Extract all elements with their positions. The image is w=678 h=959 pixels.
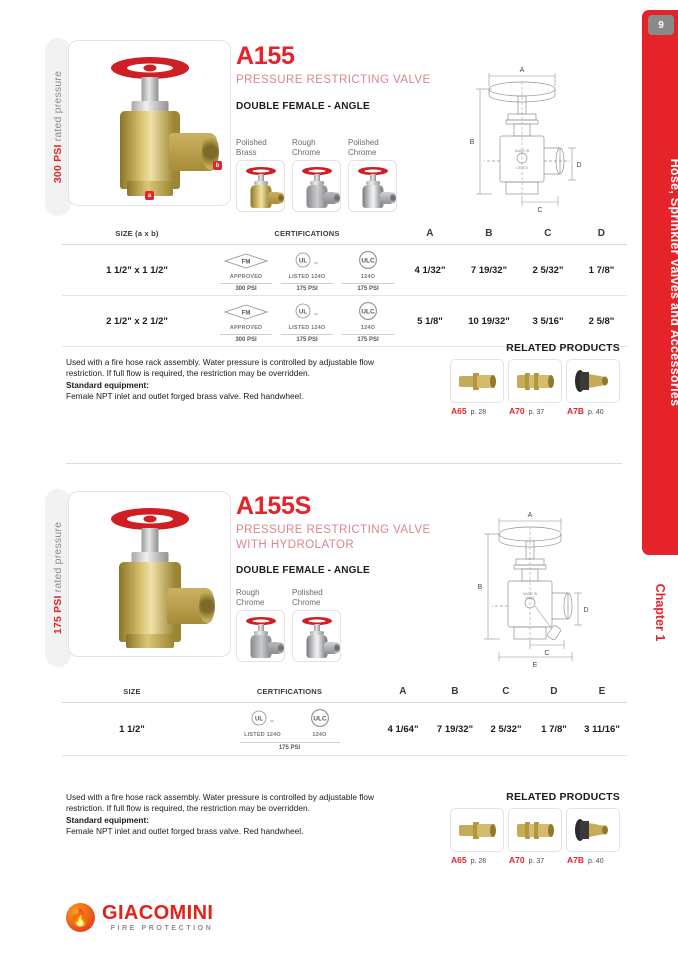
finish-option-rough-chrome[interactable]: Rough Chrome [236,588,285,662]
cell-dim-d: 1 7/8" [576,245,627,296]
related-code: A7B [567,855,584,865]
col-a: A [377,686,429,703]
standard-equipment-label: Standard equipment: [66,815,149,825]
cell-dim-c: 3 5/16" [520,296,576,347]
related-code: A7B [567,406,584,416]
svg-text:UL: UL [299,259,307,265]
flame-icon: 🔥 [66,903,95,932]
chapter-tab-title: Hose, Sprinkler Valves and Accessories [642,10,678,555]
product-subtitle-line1-a155s: PRESSURE RESTRICTING VALVE [236,523,431,538]
cell-certifications: FM APPROVED 300 PSI [212,245,402,296]
related-page: p. 37 [529,409,545,416]
svg-text:ULC: ULC [361,309,375,316]
spec-table-a155: SIZE (a x b) CERTIFICATIONS A B C D 1 1/… [62,228,627,347]
cell-dim-a: 4 1/32" [402,245,458,296]
svg-text:C: C [544,650,549,657]
brand-name: GIACOMINI [102,903,213,923]
svg-text:ULC: ULC [361,258,375,265]
svg-text:ULC: ULC [313,716,327,723]
product-variant-a155s: DOUBLE FEMALE - ANGLE [236,565,431,576]
valve-outlet [167,588,213,624]
col-c: C [481,686,531,703]
col-a: A [402,228,458,245]
cell-size: 1 1/2" x 1 1/2" [62,245,212,296]
col-d: D [531,686,577,703]
svg-text:(R): (R) [314,261,318,265]
cert-fm: FM APPROVED 300 PSI [220,248,272,292]
fm-approved-icon: FM [220,299,272,325]
related-item-a70[interactable]: A70 p. 37 [508,808,562,865]
col-c: C [520,228,576,245]
finish-thumb-polished-brass [236,160,285,212]
title-block-a155s: A155S PRESSURE RESTRICTING VALVE WITH HY… [236,492,431,576]
nozzle-icon [571,368,615,394]
chapter-number-label: Chapter 1 [642,555,678,670]
product-subtitle-line2-a155s: WITH HYDROLATOR [236,538,431,553]
ulc-icon: ULC [342,248,394,274]
svg-text:B: B [470,139,475,146]
catalog-page: 300 PSI rated pressure a b [0,0,636,959]
svg-text:A: A [528,512,533,519]
valve-base [126,634,174,648]
finish-swatches-a155: Polished Brass [236,138,397,212]
related-thumb-a7b [566,359,620,403]
cert-ulc: ULC 124O 175 PSI [342,248,394,292]
brand-logo: 🔥 GIACOMINI FIRE PROTECTION [66,903,213,932]
coupling-icon [455,368,499,394]
finish-thumb-rough-chrome [292,160,341,212]
coupling-icon [513,368,557,394]
cell-size: 1 1/2" [62,703,202,756]
standard-equipment-text: Female NPT inlet and outlet forged brass… [66,391,386,402]
product-variant-a155: DOUBLE FEMALE - ANGLE [236,101,431,112]
finish-thumb-polished-chrome [292,610,341,662]
finish-option-polished-chrome[interactable]: Polished Chrome [348,138,397,212]
handwheel-icon [111,508,189,530]
svg-text:UL: UL [299,310,307,316]
table-row: 2 1/2" x 2 1/2" FM [62,296,627,347]
technical-drawing-a155s: A B C D E MADE IN ITALY [472,507,592,667]
chapter-tab: Hose, Sprinkler Valves and Accessories [642,10,678,555]
dimension-marker-b: b [213,161,222,170]
col-certifications: CERTIFICATIONS [202,686,377,703]
col-certifications: CERTIFICATIONS [212,228,402,245]
description-a155: Used with a fire hose rack assembly. Wat… [66,357,386,402]
svg-text:FM: FM [242,260,251,266]
related-products-title: RELATED PRODUCTS [450,791,620,803]
cell-dim-c: 2 5/32" [481,703,531,756]
psi-value-a155: 300 PSI [52,144,64,183]
related-page: p. 28 [471,409,487,416]
description-paragraph: Used with a fire hose rack assembly. Wat… [66,792,374,813]
ul-listed-icon: UL (R) [240,706,286,732]
related-code: A65 [451,855,467,865]
standard-equipment-label: Standard equipment: [66,380,149,390]
chapter-number-tab: Chapter 1 [642,555,678,670]
svg-text:UL: UL [255,717,263,723]
col-d: D [576,228,627,245]
cell-dim-d: 2 5/8" [576,296,627,347]
cell-dim-b: 7 19/32" [458,245,520,296]
related-page: p. 28 [471,858,487,865]
cell-size: 2 1/2" x 2 1/2" [62,296,212,347]
psi-suffix-a155: rated pressure [52,71,64,142]
col-b: B [429,686,481,703]
brand-tagline: FIRE PROTECTION [102,925,213,932]
dimension-marker-a: a [145,191,154,200]
related-page: p. 37 [529,858,545,865]
cell-dim-a: 5 1/8" [402,296,458,347]
ulc-icon: ULC [300,706,340,732]
finish-option-rough-chrome[interactable]: Rough Chrome [292,138,341,212]
svg-text:D: D [583,607,588,614]
table-header-row: SIZE CERTIFICATIONS A B C D E [62,686,627,703]
related-products-title: RELATED PRODUCTS [450,342,620,354]
table-header-row: SIZE (a x b) CERTIFICATIONS A B C D [62,228,627,245]
ul-listed-icon: UL (R) [281,248,333,274]
table-row: 1 1/2" x 1 1/2" FM [62,245,627,296]
table-row: 1 1/2" UL (R) [62,703,627,756]
svg-text:B: B [478,584,483,591]
technical-drawing-a155: A B C D LISTED MADE IN [462,62,582,212]
nozzle-icon [571,817,615,843]
ulc-icon: ULC [342,299,394,325]
main-product-photo-a155[interactable]: a b [68,40,231,206]
cert-ulc: ULC 124O 175 PSI [342,299,394,343]
col-size: SIZE (a x b) [62,228,212,245]
col-e: E [577,686,627,703]
related-products-a155: RELATED PRODUCTS A65 p. 28 [450,342,620,416]
ul-listed-icon: UL (R) [281,299,333,325]
finish-option-polished-chrome[interactable]: Polished Chrome [292,588,341,662]
cell-dim-a: 4 1/64" [377,703,429,756]
finish-thumb-polished-chrome [348,160,397,212]
cell-dim-d: 1 7/8" [531,703,577,756]
cell-dim-b: 10 19/32" [458,296,520,347]
standard-equipment-text: Female NPT inlet and outlet forged brass… [66,826,386,837]
related-item-a65[interactable]: A65 p. 28 [450,808,504,865]
section-divider [66,463,622,464]
svg-text:(R): (R) [270,719,274,723]
related-thumb-a70 [508,359,562,403]
cert-shared-psi: 175 PSI [240,742,340,751]
related-thumb-a65 [450,359,504,403]
cell-dim-c: 2 5/32" [520,245,576,296]
svg-text:FM: FM [242,311,251,317]
product-subtitle-a155: PRESSURE RESTRICTING VALVE [236,73,431,88]
handwheel-icon [111,57,189,79]
related-code: A65 [451,406,467,416]
related-item-a65[interactable]: A65 p. 28 [450,359,504,416]
coupling-icon [513,817,557,843]
description-paragraph: Used with a fire hose rack assembly. Wat… [66,357,374,378]
svg-text:D: D [576,162,581,169]
valve-illustration [69,492,230,656]
valve-illustration: a b [69,41,230,205]
related-thumb-a70 [508,808,562,852]
svg-text:(R): (R) [314,312,318,316]
related-thumb-a7b [566,808,620,852]
valve-outlet [169,133,217,171]
related-page: p. 40 [588,858,604,865]
svg-text:LISTED: LISTED [516,166,529,170]
col-size: SIZE [62,686,202,703]
cell-certifications: FM APPROVED 300 PSI [212,296,402,347]
finish-option-polished-brass[interactable]: Polished Brass [236,138,285,212]
cert-ulc: ULC 124O [300,706,340,740]
related-products-a155s: RELATED PRODUCTS A65 p. 28 [450,791,620,865]
finish-swatches-a155s: Rough Chrome [236,588,341,662]
cert-ul: UL (R) LISTED 124O 175 PSI [281,299,333,343]
description-a155s: Used with a fire hose rack assembly. Wat… [66,792,386,837]
cert-ul: UL (R) LISTED 124O 175 PSI [281,248,333,292]
cell-dim-e: 3 11/16" [577,703,627,756]
related-code: A70 [509,855,525,865]
cert-ul: UL (R) LISTED 124O [240,706,286,740]
related-code: A70 [509,406,525,416]
product-code-a155: A155 [236,42,431,71]
svg-text:ITALY: ITALY [525,596,535,600]
spec-table-a155s: SIZE CERTIFICATIONS A B C D E 1 1/2" [62,686,627,756]
related-thumb-a65 [450,808,504,852]
svg-text:E: E [533,662,538,667]
page-number-badge: 9 [648,15,674,35]
svg-text:C: C [537,207,542,212]
product-code-a155s: A155S [236,492,431,521]
cell-certifications: UL (R) LISTED 124O [202,703,377,756]
finish-thumb-rough-chrome [236,610,285,662]
related-item-a70[interactable]: A70 p. 37 [508,359,562,416]
main-product-photo-a155s[interactable] [68,491,231,657]
related-item-a7b[interactable]: A7B p. 40 [566,808,620,865]
cell-dim-b: 7 19/32" [429,703,481,756]
psi-value-a155s: 175 PSI [52,595,64,634]
cert-fm: FM APPROVED 300 PSI [220,299,272,343]
svg-text:MADE IN: MADE IN [515,149,530,153]
title-block-a155: A155 PRESSURE RESTRICTING VALVE DOUBLE F… [236,42,431,112]
related-page: p. 40 [588,409,604,416]
fm-approved-icon: FM [220,248,272,274]
svg-text:A: A [520,67,525,74]
coupling-icon [455,817,499,843]
related-item-a7b[interactable]: A7B p. 40 [566,359,620,416]
col-b: B [458,228,520,245]
psi-suffix-a155s: rated pressure [52,522,64,593]
